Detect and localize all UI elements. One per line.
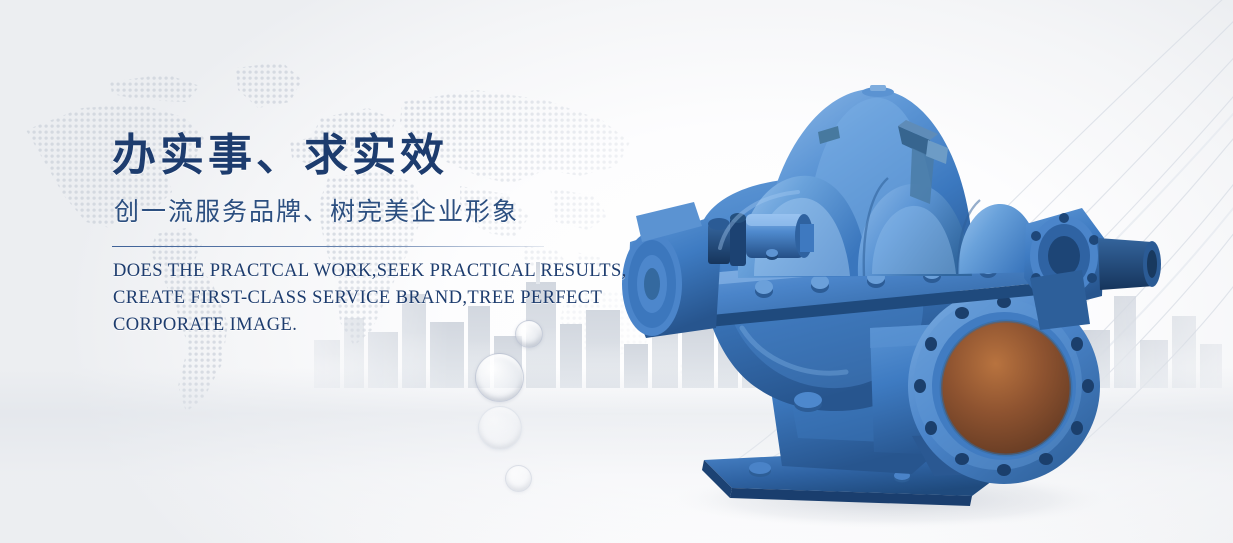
page-title: 办实事、求实效 (112, 132, 672, 180)
tagline-line-2: CREATE FIRST-CLASS SERVICE BRAND,TREE PE… (113, 285, 672, 312)
water-bubbles-graphic (455, 320, 635, 520)
divider (112, 246, 544, 247)
page-subtitle: 创一流服务品牌、树完美企业形象 (114, 192, 672, 228)
bubble-large-icon (475, 353, 524, 402)
tagline-line-3: CORPORATE IMAGE. (113, 312, 672, 339)
bubble-medium-faded-icon (478, 406, 522, 450)
hero-banner: 办实事、求实效 创一流服务品牌、树完美企业形象 DOES THE PRACTCA… (0, 0, 1233, 543)
tagline-block: DOES THE PRACTCAL WORK,SEEK PRACTICAL RE… (113, 258, 672, 340)
tagline-line-1: DOES THE PRACTCAL WORK,SEEK PRACTICAL RE… (113, 258, 672, 285)
centrifugal-pump-image (612, 28, 1212, 538)
bubble-small-bottom-icon (505, 465, 532, 492)
banner-copy: 办实事、求实效 创一流服务品牌、树完美企业形象 DOES THE PRACTCA… (112, 132, 672, 340)
